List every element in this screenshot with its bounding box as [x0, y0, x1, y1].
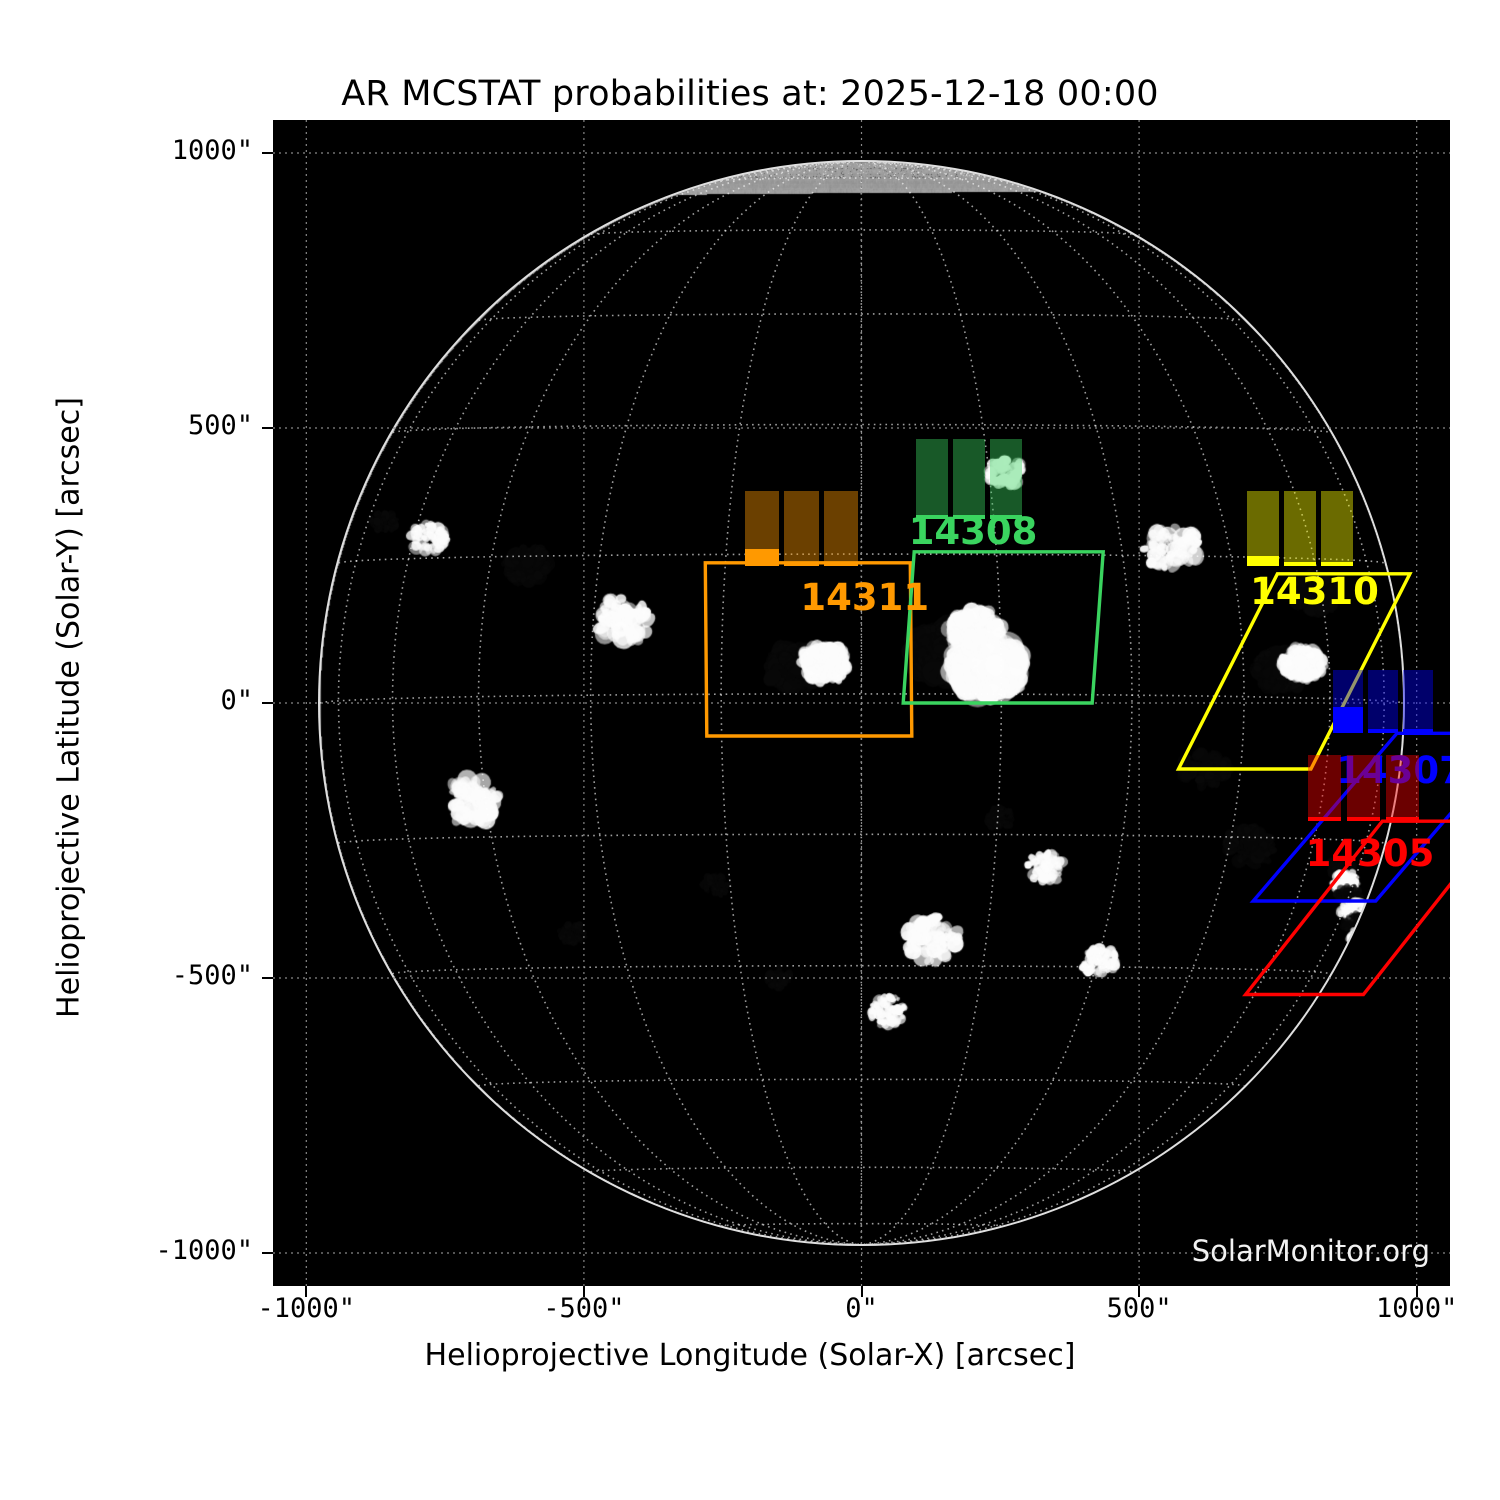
probability-fill: [1308, 817, 1341, 822]
probability-slot-background: [1386, 755, 1419, 821]
probability-slot: [1403, 670, 1433, 733]
probability-slot-background: [784, 491, 818, 565]
heliographic-grid: [320, 162, 1403, 1245]
probability-slot-background: [1347, 755, 1380, 821]
y-tick-mark: [262, 977, 273, 979]
probability-bars-14307: [1331, 670, 1436, 733]
probability-slot: [990, 439, 1022, 519]
solar-magnetogram-figure: AR MCSTAT probabilities at: 2025-12-18 0…: [0, 0, 1500, 1500]
probability-bars-14310: [1245, 491, 1356, 565]
y-axis-label: Helioprojective Latitude (Solar-Y) [arcs…: [52, 358, 87, 1058]
probability-fill: [745, 549, 779, 565]
active-region-label-14305[interactable]: 14305: [1306, 835, 1435, 872]
x-tick-mark: [861, 1286, 863, 1297]
solar-disk: [320, 162, 1403, 1245]
probability-fill: [990, 515, 1022, 519]
watermark: SolarMonitor.org: [1192, 1234, 1430, 1268]
x-axis-label: Helioprojective Longitude (Solar-X) [arc…: [0, 1338, 1500, 1373]
probability-fill: [953, 515, 985, 519]
probability-slot-background: [916, 439, 948, 519]
y-tick-mark: [262, 702, 273, 704]
probability-slot-background: [1247, 491, 1279, 565]
probability-fill: [1321, 562, 1353, 566]
probability-bars-14305: [1306, 755, 1423, 821]
y-tick-label: -1000": [133, 1235, 253, 1266]
x-tick-label: 0": [762, 1293, 962, 1324]
x-tick-mark: [1416, 1286, 1418, 1297]
y-tick-label: 500": [133, 410, 253, 441]
x-tick-mark: [583, 1286, 585, 1297]
probability-slot: [745, 491, 779, 565]
probability-fill: [1247, 556, 1279, 566]
probability-slot: [1347, 755, 1380, 821]
plot-area: 1431114308143101430714305 SolarMonitor.o…: [273, 120, 1450, 1286]
probability-slot: [916, 439, 948, 519]
probability-fill: [824, 562, 858, 566]
x-tick-mark: [1138, 1286, 1140, 1297]
probability-slot: [784, 491, 818, 565]
active-region-label-14311[interactable]: 14311: [800, 579, 929, 616]
page-title: AR MCSTAT probabilities at: 2025-12-18 0…: [0, 74, 1500, 114]
x-tick-label: -500": [484, 1293, 684, 1324]
probability-slot-background: [990, 439, 1022, 519]
probability-fill: [1284, 562, 1316, 566]
probability-fill: [916, 515, 948, 519]
probability-slot-background: [1308, 755, 1341, 821]
probability-slot: [1284, 491, 1316, 565]
probability-slot-background: [953, 439, 985, 519]
active-region-label-14310[interactable]: 14310: [1250, 573, 1379, 610]
y-tick-mark: [262, 1252, 273, 1254]
probability-slot: [1386, 755, 1419, 821]
probability-slot-background: [824, 491, 858, 565]
probability-fill: [1403, 729, 1433, 733]
probability-fill: [1347, 817, 1380, 821]
probability-slot: [1368, 670, 1398, 733]
probability-slot: [1333, 670, 1363, 733]
x-tick-label: 1000": [1317, 1293, 1500, 1324]
probability-fill: [784, 562, 818, 566]
x-tick-label: 500": [1039, 1293, 1239, 1324]
probability-slot: [1308, 755, 1341, 821]
probability-slot: [824, 491, 858, 565]
probability-fill: [1368, 729, 1398, 733]
probability-slot-background: [1403, 670, 1433, 733]
y-tick-mark: [262, 152, 273, 154]
probability-slot-background: [1284, 491, 1316, 565]
x-tick-label: -1000": [206, 1293, 406, 1324]
probability-bars-14311: [742, 491, 861, 565]
y-tick-mark: [262, 427, 273, 429]
probability-slot: [1321, 491, 1353, 565]
probability-fill: [1333, 707, 1363, 734]
y-tick-label: 1000": [133, 135, 253, 166]
probability-bars-14308: [914, 439, 1025, 519]
probability-slot: [953, 439, 985, 519]
probability-fill: [1386, 817, 1419, 821]
y-tick-label: 0": [133, 685, 253, 716]
y-tick-label: -500": [133, 960, 253, 991]
probability-slot-background: [1321, 491, 1353, 565]
probability-slot-background: [1368, 670, 1398, 733]
probability-slot: [1247, 491, 1279, 565]
x-tick-mark: [305, 1286, 307, 1297]
